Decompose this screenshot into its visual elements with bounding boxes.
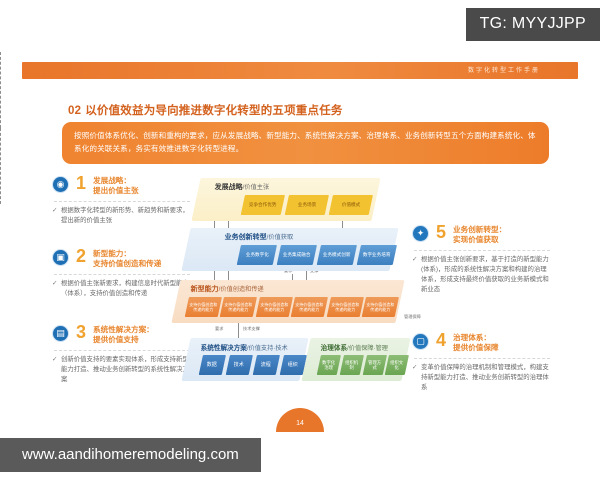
- value-system-diagram: 要求 能力 要求 价值获取 要求 支撑 要求 技术支撑 要求 管理保障 发展战略…: [0, 52, 600, 432]
- connector-capability-to-solution: [238, 320, 239, 340]
- chip-capability-2[interactable]: 支持价值创造和传递的能力: [220, 297, 257, 317]
- chip-business-3[interactable]: 业务模式创新: [317, 245, 357, 265]
- band-business-label: 业务创新转型/价值获取: [225, 232, 389, 242]
- band-systematic-solution[interactable]: 系统性解决方案/价值支持·技术 数据 技术 流程 组织: [181, 338, 308, 381]
- band-strategy[interactable]: 发展战略/价值主张 竞争合作优势 业务场景 价值模式: [191, 178, 380, 221]
- chip-business-1[interactable]: 业务数字化: [237, 245, 277, 265]
- chip-capability-5[interactable]: 支持价值创造和传递的能力: [326, 297, 363, 317]
- chip-strategy-2[interactable]: 业务场景: [285, 195, 329, 215]
- chip-governance-3[interactable]: 管理方式: [362, 355, 386, 375]
- band-governance-system[interactable]: 治理体系/价值保障·管理 数字化治理 组织机制 管理方式 组织文化: [301, 338, 410, 381]
- band-strategy-boxes: 竞争合作优势 业务场景 价值模式: [243, 195, 371, 215]
- chip-governance-1[interactable]: 数字化治理: [317, 355, 341, 375]
- chip-business-2[interactable]: 业务集成融合: [277, 245, 317, 265]
- footer-watermark-url: www.aandihomeremodeling.com: [0, 438, 261, 472]
- chip-solution-1[interactable]: 数据: [199, 355, 226, 375]
- connector-governance-dashed: [0, 52, 1, 128]
- band-governance-label: 治理体系/价值保障·管理: [321, 342, 401, 352]
- chip-solution-3[interactable]: 流程: [253, 355, 280, 375]
- connector-label: 管理保障: [403, 314, 422, 320]
- chip-solution-2[interactable]: 技术: [226, 355, 253, 375]
- connector-label: 技术支撑: [242, 326, 261, 332]
- telegram-watermark-tag: TG: MYYJJPP: [466, 8, 600, 41]
- band-capability-boxes: 支持价值创造和传递的能力 支持价值创造和传递的能力 支持价值创造和传递的能力 支…: [187, 297, 397, 317]
- band-solution-label: 系统性解决方案/价值支持·技术: [201, 342, 299, 352]
- band-business-boxes: 业务数字化 业务集成融合 业务模式创新 数字业务培育: [239, 245, 395, 265]
- chip-capability-1[interactable]: 支持价值创造和传递的能力: [185, 297, 222, 317]
- chip-business-4[interactable]: 数字业务培育: [357, 245, 397, 265]
- band-governance-boxes: 数字化治理 组织机制 管理方式 组织文化: [319, 355, 407, 375]
- slide-canvas: 数字化转型工作手册 02以价值效益为导向推进数字化转型的五项重点任务 按照价值体…: [0, 52, 600, 432]
- chip-governance-2[interactable]: 组织机制: [339, 355, 363, 375]
- chip-strategy-3[interactable]: 价值模式: [329, 195, 373, 215]
- band-solution-boxes: 数据 技术 流程 组织: [201, 355, 305, 375]
- connector-governance-dashed-2: [0, 128, 1, 204]
- band-capability-label: 新型能力/价值创造和传递: [191, 284, 395, 294]
- chip-capability-3[interactable]: 支持价值创造和传递的能力: [256, 297, 293, 317]
- chip-capability-6[interactable]: 支持价值创造和传递的能力: [362, 297, 399, 317]
- band-new-capability[interactable]: 新型能力/价值创造和传递 支持价值创造和传递的能力 支持价值创造和传递的能力 支…: [171, 280, 404, 323]
- band-strategy-label: 发展战略/价值主张: [215, 182, 371, 192]
- connector-label: 要求: [214, 326, 224, 332]
- chip-governance-4[interactable]: 组织文化: [385, 355, 409, 375]
- band-business-transformation[interactable]: 业务创新转型/价值获取 业务数字化 业务集成融合 业务模式创新 数字业务培育: [181, 228, 398, 271]
- chip-capability-4[interactable]: 支持价值创造和传递的能力: [291, 297, 328, 317]
- chip-strategy-1[interactable]: 竞争合作优势: [241, 195, 285, 215]
